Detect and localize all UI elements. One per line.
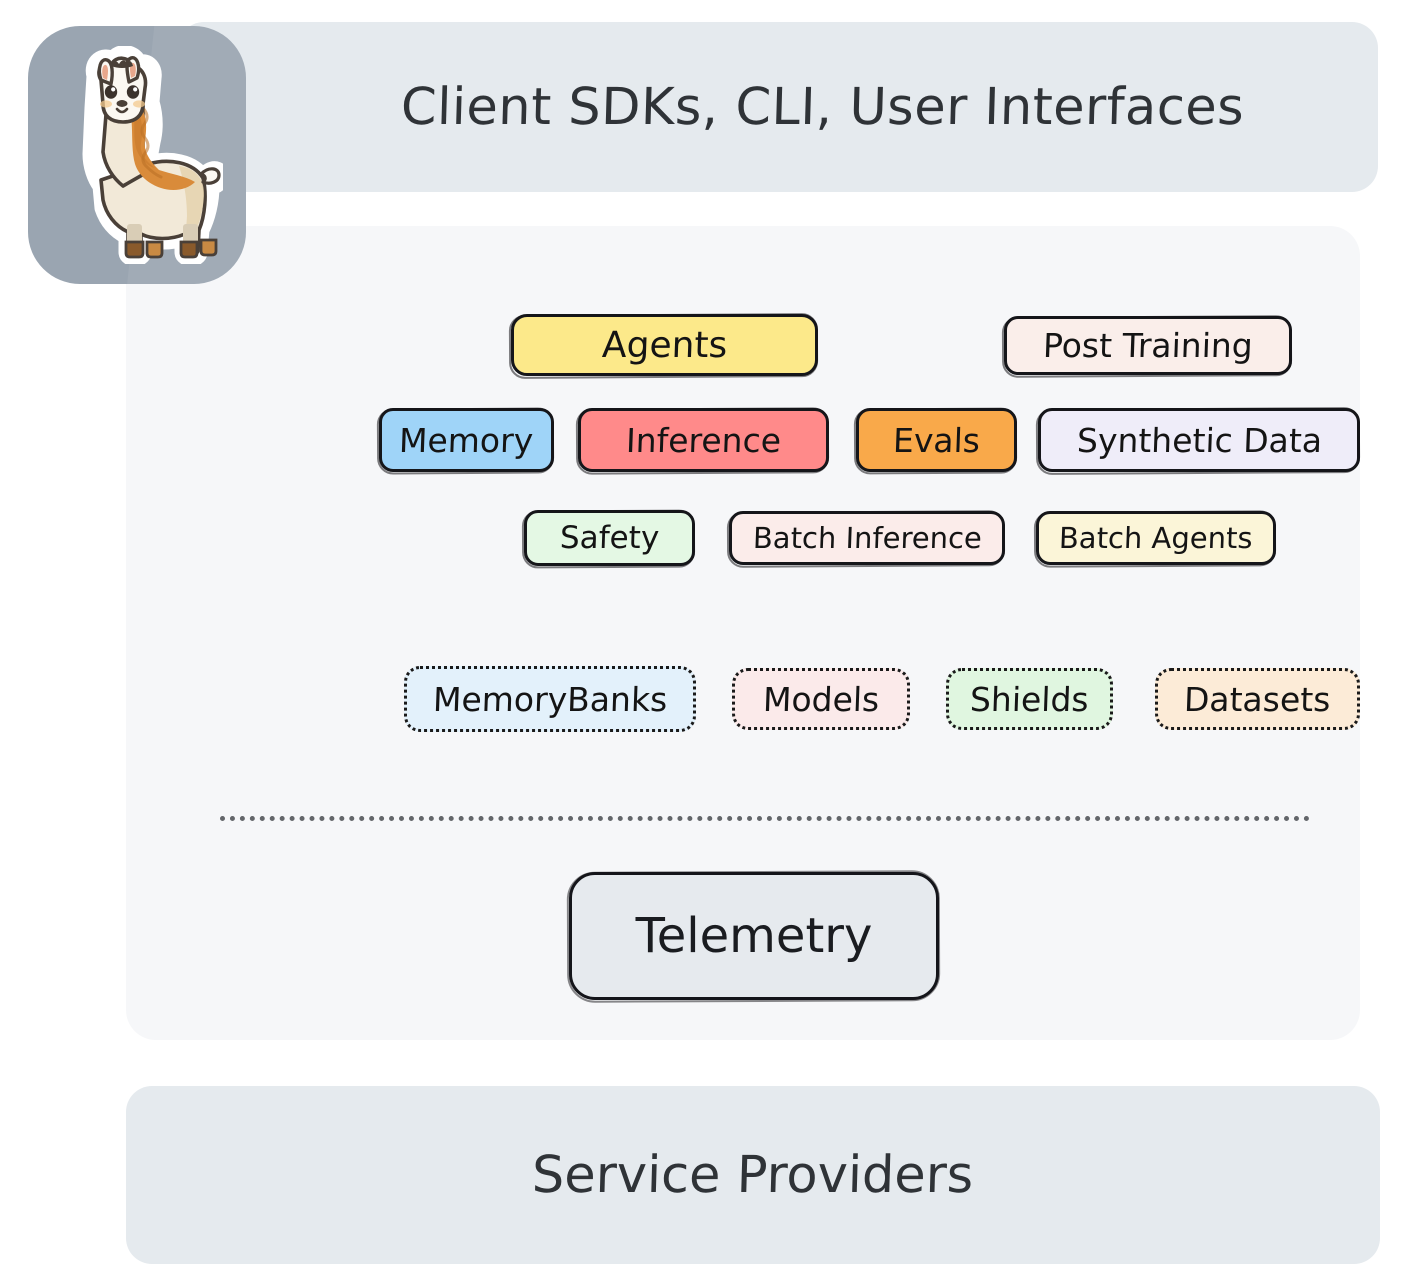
resource-box-memorybanks[interactable]: MemoryBanks: [404, 666, 696, 732]
resource-label: Datasets: [1183, 680, 1331, 719]
resource-label: Shields: [969, 680, 1089, 719]
capability-box-agents[interactable]: Agents: [511, 314, 818, 376]
resource-row: MemoryBanks Models Shields Datasets: [126, 666, 1360, 732]
capability-row-core: Memory Inference Evals Synthetic Data: [126, 408, 1360, 472]
header-title: Client SDKs, CLI, User Interfaces: [401, 78, 1246, 137]
capability-label: Memory: [399, 421, 535, 460]
capability-box-memory[interactable]: Memory: [379, 408, 554, 472]
resource-label: Models: [762, 680, 880, 719]
capability-label: Inference: [625, 421, 781, 460]
capability-label: Evals: [892, 421, 980, 460]
resource-box-shields[interactable]: Shields: [946, 668, 1113, 730]
diagram-canvas: Client SDKs, CLI, User Interfaces: [0, 0, 1410, 1268]
main-panel: Agents Post Training Memory Inference Ev…: [126, 226, 1360, 1040]
capability-row-batch: Safety Batch Inference Batch Agents: [126, 510, 1360, 566]
capability-label: Batch Agents: [1059, 521, 1254, 555]
logo-badge: [28, 26, 246, 284]
footer-title: Service Providers: [532, 1146, 975, 1205]
header-band: Client SDKs, CLI, User Interfaces: [178, 22, 1378, 192]
llama-logo-icon: [51, 46, 223, 264]
capability-box-batch-inference[interactable]: Batch Inference: [729, 511, 1005, 565]
capability-label: Batch Inference: [752, 521, 982, 555]
capability-label: Safety: [559, 520, 659, 556]
capability-box-synthetic-data[interactable]: Synthetic Data: [1038, 408, 1360, 472]
footer-band: Service Providers: [126, 1086, 1380, 1264]
capability-label: Agents: [601, 325, 728, 366]
resource-label: MemoryBanks: [432, 680, 668, 719]
capability-box-batch-agents[interactable]: Batch Agents: [1036, 511, 1276, 565]
resource-box-datasets[interactable]: Datasets: [1155, 668, 1360, 730]
capability-box-post-training[interactable]: Post Training: [1004, 316, 1292, 375]
capability-box-safety[interactable]: Safety: [524, 510, 695, 566]
section-divider: [220, 816, 1310, 821]
capability-label: Synthetic Data: [1076, 421, 1322, 460]
telemetry-box[interactable]: Telemetry: [569, 872, 939, 1000]
capability-box-evals[interactable]: Evals: [856, 408, 1017, 472]
telemetry-label: Telemetry: [636, 908, 873, 964]
resource-box-models[interactable]: Models: [732, 668, 909, 730]
capability-box-inference[interactable]: Inference: [578, 408, 829, 472]
capability-row-agents: Agents Post Training: [126, 314, 1360, 376]
capability-label: Post Training: [1042, 326, 1253, 365]
